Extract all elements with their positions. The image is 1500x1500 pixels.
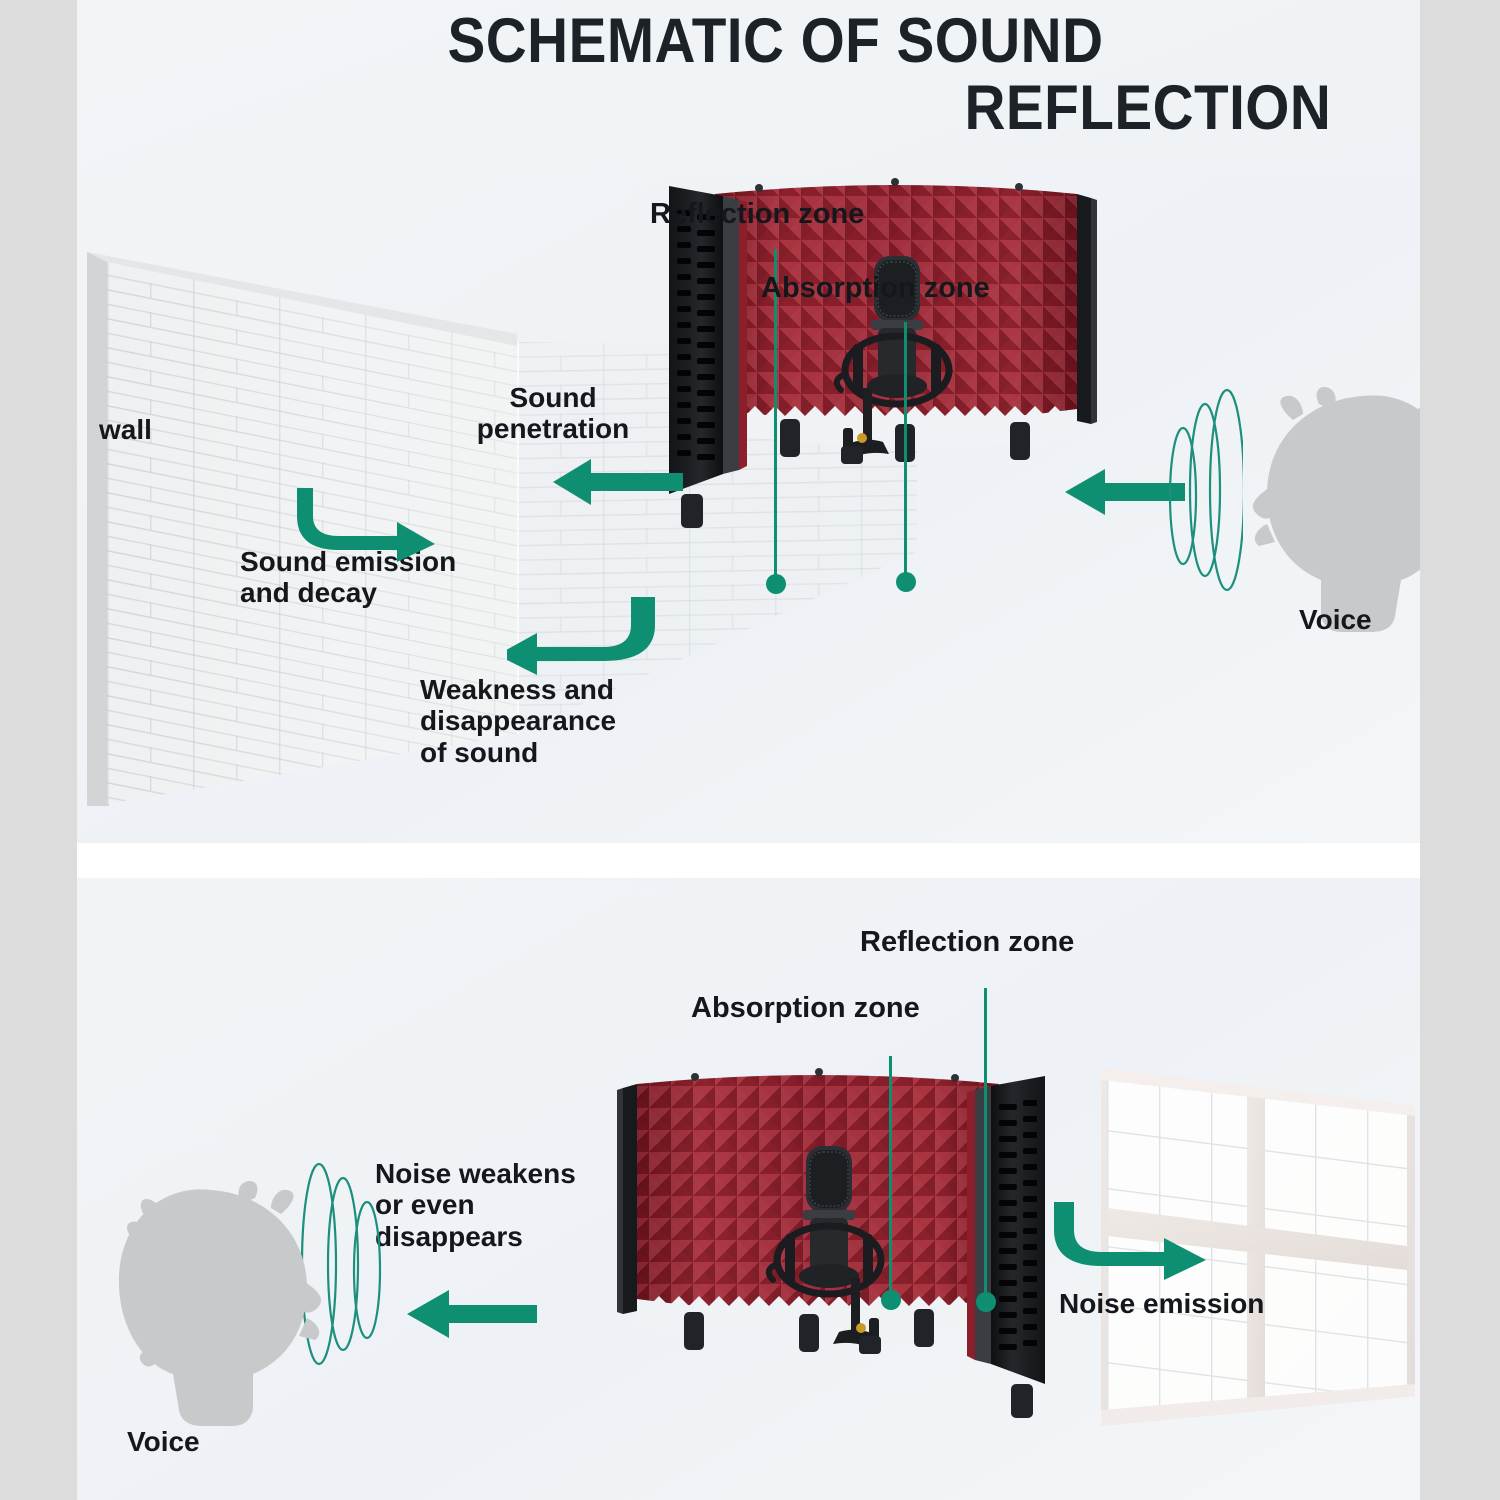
absorption-zone-dot-bottom [881, 1290, 901, 1310]
label-absorption-zone-top: Absorption zone [761, 272, 990, 304]
shield-side-panel-right [1077, 194, 1097, 424]
label-noise-emission: Noise emission [1059, 1288, 1264, 1319]
label-voice-top: Voice [1299, 604, 1372, 635]
reflection-zone-leader-bottom [984, 988, 987, 1296]
absorption-zone-dot [896, 572, 916, 592]
reflection-zone-dot [766, 574, 786, 594]
label-sound-penetration: Sound penetration [463, 382, 643, 445]
noise-emission-arrow [1052, 1196, 1212, 1282]
page-title: SCHEMATIC OF SOUND REFLECTION [77, 8, 1420, 142]
panel-without-shield: Reflection zone Absorption zone wall Sou… [77, 174, 1420, 842]
absorption-zone-leader-bottom [889, 1056, 892, 1294]
noise-weakens-arrow [407, 1288, 537, 1340]
absorption-zone-leader [904, 322, 907, 577]
title-line-2: REFLECTION [144, 75, 1353, 142]
infographic-canvas: SCHEMATIC OF SOUND REFLECTION [0, 0, 1500, 1500]
shield-edge-strip [617, 1084, 637, 1314]
label-voice-bottom: Voice [127, 1426, 200, 1457]
label-absorption-zone-bottom: Absorption zone [691, 992, 920, 1024]
head-silhouette-left [1245, 384, 1420, 634]
wall-edge-cap [87, 252, 109, 806]
label-reflection-zone-bottom: Reflection zone [860, 926, 1074, 958]
title-line-1: SCHEMATIC OF SOUND [144, 8, 1353, 75]
panel-with-shield: Reflection zone Absorption zone Noise we… [77, 878, 1420, 1500]
sound-penetration-arrow [553, 457, 683, 507]
sound-emission-arrow [295, 484, 435, 564]
label-noise-weakens: Noise weakens or even disappears [375, 1158, 576, 1252]
voice-sound-waves [1163, 386, 1243, 596]
head-silhouette-right [89, 1178, 329, 1428]
weakness-arrow [507, 591, 657, 677]
label-weakness: Weakness and disappearance of sound [420, 674, 616, 768]
microphone-isolation-shield [597, 1064, 1067, 1484]
label-wall: wall [99, 414, 152, 445]
panel-divider [77, 843, 1420, 878]
shield-side-panel [967, 1076, 1045, 1418]
microphone-isolation-shield [647, 174, 1117, 594]
label-reflection-zone-top: Reflection zone [650, 198, 864, 230]
reflection-zone-dot-bottom [976, 1292, 996, 1312]
